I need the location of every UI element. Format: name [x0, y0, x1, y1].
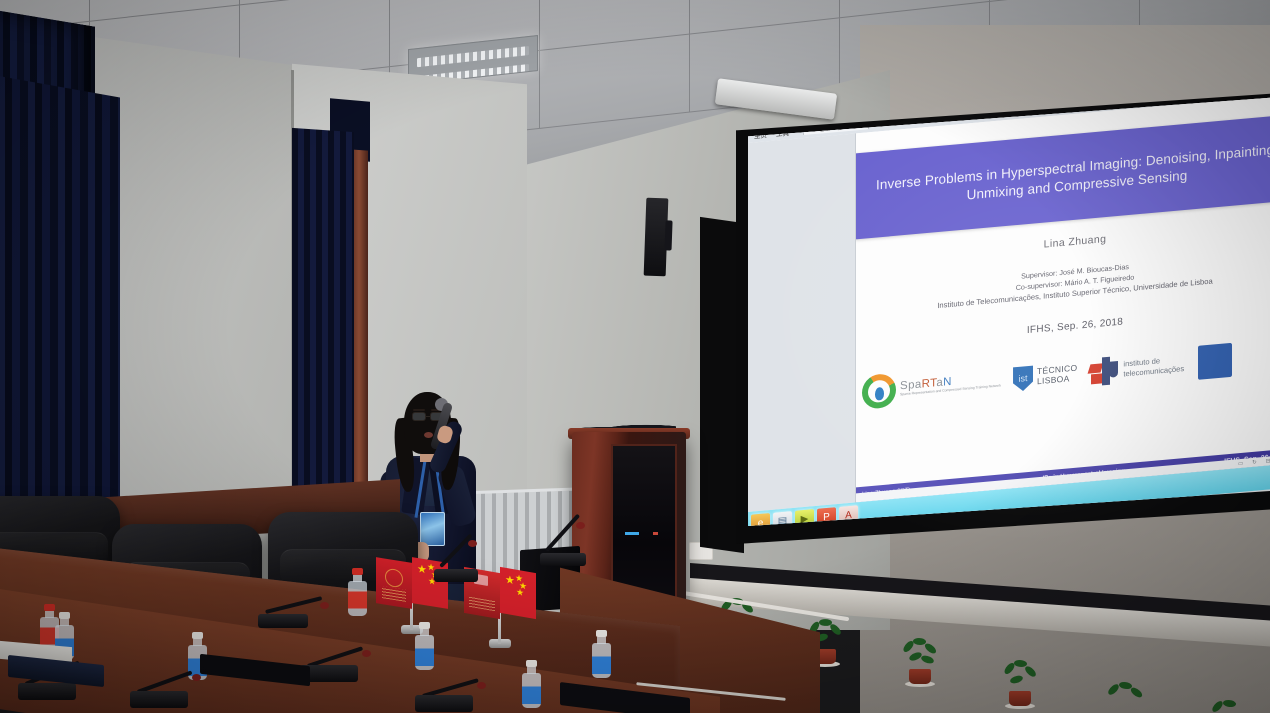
- water-bottle: [415, 622, 434, 670]
- potted-plant: [1208, 700, 1248, 713]
- zoom-out-icon[interactable]: ⊟: [1266, 458, 1270, 464]
- fourth-logo: [1198, 343, 1232, 380]
- equipment-led: [653, 532, 658, 535]
- flag-star: ★: [417, 564, 427, 577]
- instituto-telecomunicacoes-logo: instituto de telecomunicações: [1089, 350, 1184, 386]
- wall-speaker-icon: [644, 198, 669, 277]
- pdf-slide: Inverse Problems in Hyperspectral Imagin…: [856, 96, 1270, 502]
- water-bottle: [348, 568, 367, 616]
- desk-microphone: [130, 676, 210, 708]
- rotate-icon[interactable]: ↻: [1252, 459, 1257, 465]
- flag-cloth: ★ ★ ★ ★: [500, 567, 536, 619]
- eyebrow: [413, 409, 425, 411]
- water-bottle: [522, 660, 541, 708]
- tecnico-shield-icon: ist: [1013, 365, 1033, 392]
- glasses-bridge: [426, 416, 431, 417]
- presenter-mouth: [424, 432, 433, 438]
- flag-cloth: [376, 557, 412, 609]
- water-bottle: [592, 630, 611, 678]
- spartan-mark-icon: [862, 373, 896, 410]
- potted-plant: [1105, 682, 1145, 713]
- tecnico-line2: LISBOA: [1037, 374, 1077, 387]
- conference-badge: [420, 512, 445, 546]
- slide-title: Inverse Problems in Hyperspectral Imagin…: [856, 139, 1270, 215]
- browser-icon[interactable]: e: [751, 513, 770, 526]
- desk-microphone: [300, 650, 380, 682]
- desk-microphone: [415, 680, 495, 712]
- spartan-logo: SpaRTaN Sparse Representation and Compre…: [862, 363, 1001, 409]
- it-mark-icon: [1089, 356, 1119, 387]
- flag-star: ★: [516, 588, 524, 598]
- presentation-room-photo: lidan_report_Lina.pdf - Adobe Acrobat Re…: [0, 0, 1270, 713]
- desk-microphone: [540, 540, 610, 566]
- desk-microphone: [258, 600, 338, 628]
- tecnico-lisboa-logo: ist TÉCNICO LISBOA: [1013, 361, 1077, 392]
- projection-screen: lidan_report_Lina.pdf - Adobe Acrobat Re…: [748, 96, 1270, 526]
- equipment-led: [625, 532, 639, 535]
- navigation-pane[interactable]: [748, 133, 856, 512]
- slide-title-band: Inverse Problems in Hyperspectral Imagin…: [856, 113, 1270, 240]
- flag-star: ★: [505, 575, 515, 588]
- projected-desktop: lidan_report_Lina.pdf - Adobe Acrobat Re…: [748, 96, 1270, 526]
- potted-plant: [900, 638, 940, 684]
- desk-microphone: [434, 556, 504, 582]
- glasses-icon: [412, 412, 426, 421]
- potted-plant: [1000, 660, 1040, 706]
- page-fit-icon[interactable]: ▭: [1238, 460, 1243, 466]
